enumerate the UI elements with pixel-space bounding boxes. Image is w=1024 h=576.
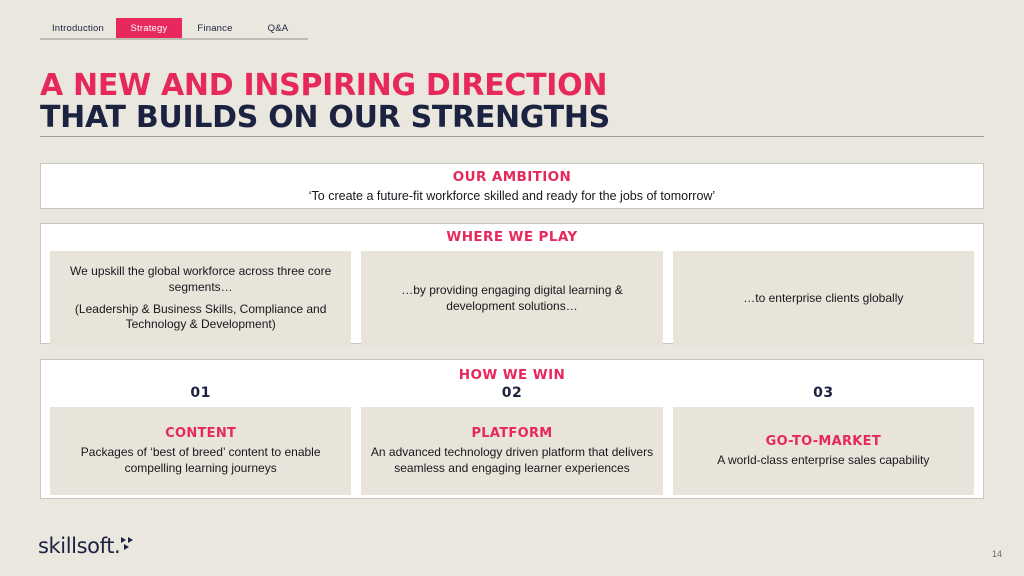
tab-qa[interactable]: Q&A — [248, 18, 308, 38]
ambition-heading: OUR AMBITION — [41, 169, 983, 185]
where-we-play-panel: WHERE WE PLAY We upskill the global work… — [40, 223, 984, 344]
page-title-line-1: A NEW AND INSPIRING DIRECTION — [40, 70, 610, 102]
pillar-number: 02 — [361, 385, 662, 401]
how-we-win-heading: HOW WE WIN — [41, 367, 983, 383]
where-we-play-card: We upskill the global workforce across t… — [50, 251, 351, 346]
ambition-statement: ‘To create a future-fit workforce skille… — [41, 189, 983, 203]
ambition-panel: OUR AMBITION ‘To create a future-fit wor… — [40, 163, 984, 209]
card-text-secondary: (Leadership & Business Skills, Complianc… — [58, 302, 343, 333]
pillar-description: Packages of ‘best of breed’ content to e… — [58, 445, 343, 476]
how-we-win-card: CONTENT Packages of ‘best of breed’ cont… — [50, 407, 351, 495]
tab-finance[interactable]: Finance — [182, 18, 248, 38]
where-we-play-card: …by providing engaging digital learning … — [361, 251, 662, 346]
how-we-win-card: GO-TO-MARKET A world-class enterprise sa… — [673, 407, 974, 495]
page-title-line-2: THAT BUILDS ON OUR STRENGTHS — [40, 102, 610, 134]
pillar-title: GO-TO-MARKET — [766, 434, 881, 451]
how-we-win-panel: HOW WE WIN 01 02 03 CONTENT Packages of … — [40, 359, 984, 499]
how-we-win-card: PLATFORM An advanced technology driven p… — [361, 407, 662, 495]
pillar-number: 01 — [50, 385, 351, 401]
how-we-win-card-row: CONTENT Packages of ‘best of breed’ cont… — [41, 407, 983, 495]
pillar-number: 03 — [673, 385, 974, 401]
pillar-description: A world-class enterprise sales capabilit… — [717, 453, 929, 468]
where-we-play-card: …to enterprise clients globally — [673, 251, 974, 346]
card-text-primary: We upskill the global workforce across t… — [58, 264, 343, 295]
how-we-win-number-row: 01 02 03 — [41, 385, 983, 401]
where-we-play-card-row: We upskill the global workforce across t… — [41, 251, 983, 346]
slide-nav-tabs[interactable]: Introduction Strategy Finance Q&A — [40, 18, 308, 38]
card-text-primary: …to enterprise clients globally — [743, 291, 903, 306]
tab-introduction[interactable]: Introduction — [40, 18, 116, 38]
page-title: A NEW AND INSPIRING DIRECTION THAT BUILD… — [40, 70, 610, 135]
page-number: 14 — [992, 549, 1002, 559]
card-text-primary: …by providing engaging digital learning … — [369, 283, 654, 314]
pillar-title: CONTENT — [165, 426, 236, 443]
play-triangles-icon — [121, 537, 139, 551]
tab-strategy[interactable]: Strategy — [116, 18, 182, 38]
logo-wordmark: skillsoft. — [38, 536, 120, 557]
pillar-title: PLATFORM — [471, 426, 552, 443]
pillar-description: An advanced technology driven platform t… — [369, 445, 654, 476]
where-we-play-heading: WHERE WE PLAY — [41, 229, 983, 245]
nav-underline — [40, 38, 308, 40]
title-divider — [40, 136, 984, 137]
skillsoft-logo: skillsoft. — [38, 536, 139, 557]
